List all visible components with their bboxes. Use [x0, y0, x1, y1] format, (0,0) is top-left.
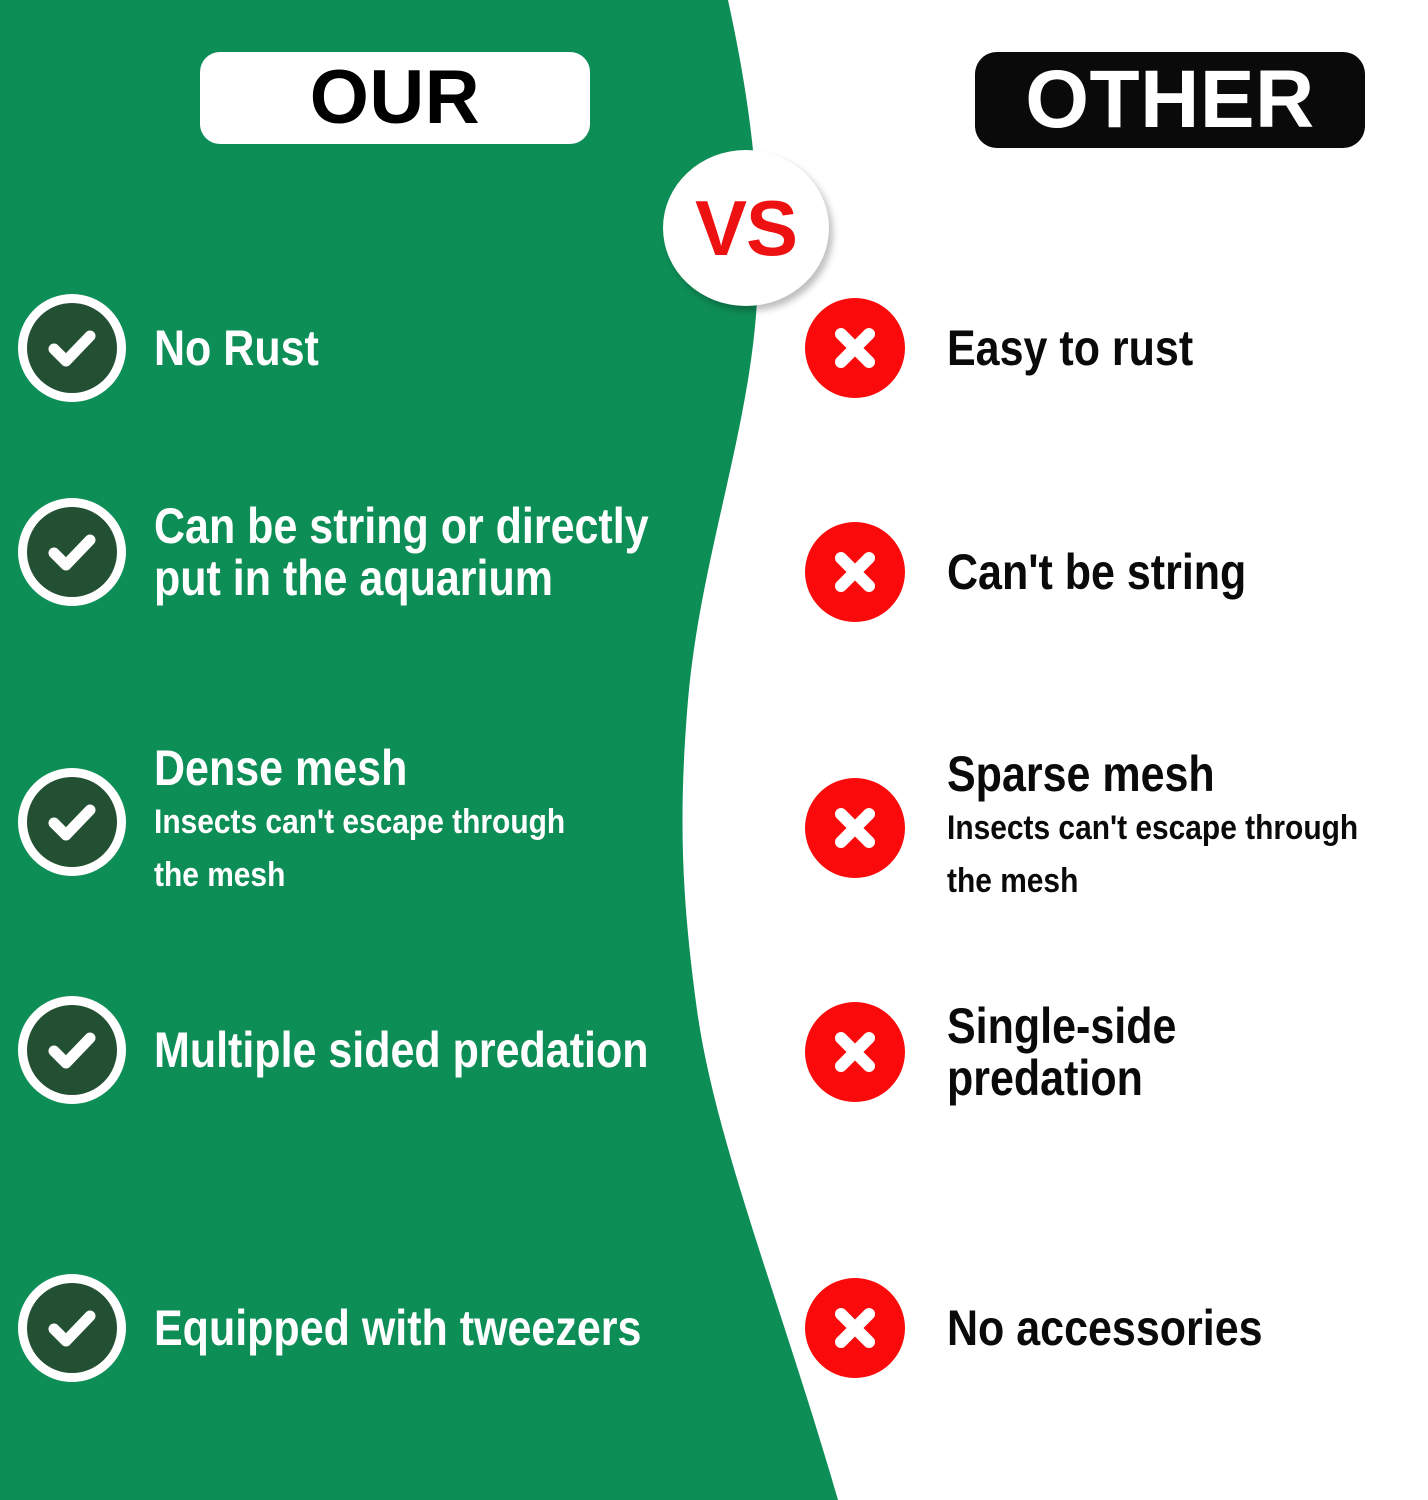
other-row-1-title: Easy to rust: [947, 322, 1193, 374]
check-circle-icon: [18, 294, 126, 402]
other-row-1: Easy to rust: [805, 298, 1233, 398]
our-row-3-subtitle: Insects can't escape through the mesh: [154, 796, 565, 901]
other-row-3-title: Sparse mesh: [947, 748, 1349, 800]
our-row-5: Equipped with tweezers: [18, 1274, 721, 1382]
our-row-4-title: Multiple sided predation: [154, 1024, 649, 1076]
our-header-label: OUR: [310, 60, 480, 136]
other-row-5: No accessories: [805, 1278, 1314, 1378]
other-row-4-title: Single-side predation: [947, 1000, 1361, 1104]
our-row-3-title: Dense mesh: [154, 742, 556, 794]
our-row-3: Dense mesh Insects can't escape through …: [18, 742, 621, 901]
check-circle-icon: [18, 498, 126, 606]
check-circle-icon: [18, 1274, 126, 1382]
vs-label: VS: [695, 183, 797, 274]
our-row-2-title: Can be string or directly put in the aqu…: [154, 500, 649, 604]
our-header-pill: OUR: [200, 52, 590, 144]
other-row-5-title: No accessories: [947, 1302, 1263, 1354]
our-row-4: Multiple sided predation: [18, 996, 729, 1104]
comparison-infographic: OUR OTHER VS No Rust Can be string or di…: [0, 0, 1428, 1500]
x-circle-icon: [805, 298, 905, 398]
check-circle-icon: [18, 768, 126, 876]
other-row-2: Can't be string: [805, 522, 1295, 622]
our-row-2: Can be string or directly put in the aqu…: [18, 498, 729, 606]
x-circle-icon: [805, 522, 905, 622]
other-row-3-subtitle: Insects can't escape through the mesh: [947, 802, 1358, 907]
other-row-2-title: Can't be string: [947, 546, 1246, 598]
x-circle-icon: [805, 778, 905, 878]
our-row-1: No Rust: [18, 294, 346, 402]
x-circle-icon: [805, 1002, 905, 1102]
other-header-pill: OTHER: [975, 52, 1365, 148]
x-circle-icon: [805, 1278, 905, 1378]
our-row-5-title: Equipped with tweezers: [154, 1302, 641, 1354]
other-header-label: OTHER: [1025, 59, 1315, 141]
check-circle-icon: [18, 996, 126, 1104]
other-row-4: Single-side predation: [805, 1000, 1428, 1104]
other-row-3: Sparse mesh Insects can't escape through…: [805, 748, 1414, 907]
vs-badge: VS: [663, 150, 829, 306]
our-row-1-title: No Rust: [154, 322, 319, 374]
